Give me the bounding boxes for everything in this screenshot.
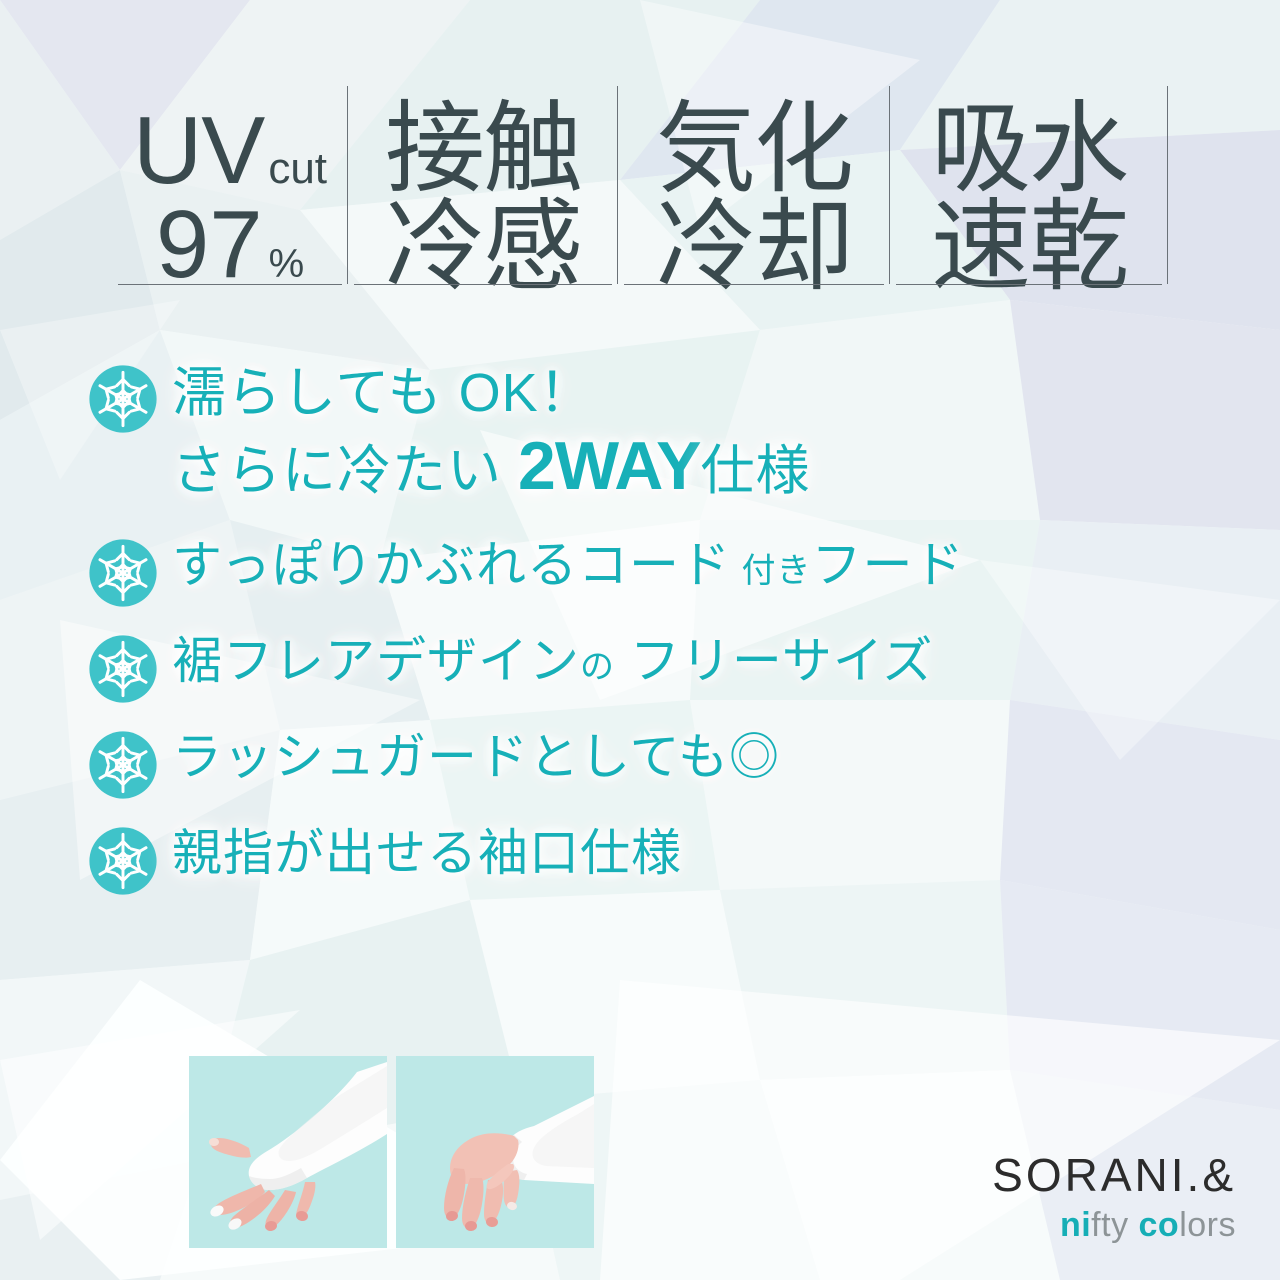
bullet-1-line-2-prefix: さらに冷たい [172, 441, 518, 501]
list-item: ラッシュガードとしても◎ [88, 728, 1218, 800]
list-item-text: すっぽりかぶれるコード 付きフード [172, 536, 964, 595]
bullet-2-text-b: 付き [731, 552, 811, 590]
brand-sub-fty: fty [1091, 1206, 1138, 1244]
bullet-1-highlight-2way: 2WAY [518, 428, 700, 504]
feature-evaporative-cooling-line1: 気化 [656, 100, 852, 198]
list-item: 親指が出せる袖口仕様 [88, 824, 1218, 896]
bullet-4-text: ラッシュガードとしても◎ [172, 728, 780, 787]
brand-sub-ni: ni [1060, 1206, 1091, 1244]
bullet-3-text-a: 裾フレアデザイン [172, 633, 580, 689]
bullet-1-line-1: 濡らしても OK！ [172, 362, 810, 426]
feature-contact-cooling-line1: 接触 [385, 100, 581, 198]
bullet-1-line-2-suffix: 仕様 [700, 441, 810, 501]
brand-name-sorani: SORANI.& [992, 1151, 1236, 1199]
list-item: 濡らしても OK！ さらに冷たい 2WAY仕様 [88, 362, 1218, 506]
snowflake-icon [88, 634, 158, 704]
feature-uv-cut: UVcut 97% [112, 86, 348, 310]
bullet-3-text-c: フリーサイズ [615, 633, 933, 689]
bullet-5-text: 親指が出せる袖口仕様 [172, 824, 682, 883]
advertisement-canvas: UVcut 97% 接触 冷感 気化 冷却 吸水 速乾 [0, 0, 1280, 1280]
snowflake-icon [88, 826, 158, 896]
feature-uv-line1: UVcut [133, 104, 327, 198]
list-item-text: ラッシュガードとしても◎ [172, 728, 780, 787]
list-item-text: 濡らしても OK！ さらに冷たい 2WAY仕様 [172, 362, 810, 506]
list-item: 裾フレアデザインの フリーサイズ [88, 632, 1218, 704]
feature-contact-cooling: 接触 冷感 [348, 86, 618, 310]
feature-uv-percent-value: 97 [156, 198, 263, 292]
brand-logo: SORANI.& nifty colors [992, 1151, 1236, 1246]
list-item-text: 裾フレアデザインの フリーサイズ [172, 632, 933, 691]
brand-sub-co: co [1139, 1206, 1180, 1244]
snowflake-icon [88, 538, 158, 608]
list-item: すっぽりかぶれるコード 付きフード [88, 536, 1218, 608]
feature-contact-cooling-line2: 冷感 [385, 198, 581, 296]
list-item-text: 親指が出せる袖口仕様 [172, 824, 682, 883]
feature-quick-dry-line1: 吸水 [931, 100, 1127, 198]
brand-name-nifty-colors: nifty colors [992, 1205, 1236, 1246]
feature-quick-dry: 吸水 速乾 [890, 86, 1168, 310]
feature-uv-main: UV [133, 104, 264, 198]
bullet-2-text-c: フード [811, 537, 964, 593]
brand-sub-lors: lors [1179, 1206, 1236, 1244]
feature-uv-line2: 97% [156, 198, 304, 292]
feature-badges-row: UVcut 97% 接触 冷感 気化 冷却 吸水 速乾 [112, 86, 1168, 310]
feature-uv-percent-sign: % [269, 245, 305, 284]
bullet-2-text-a: すっぽりかぶれるコード [172, 537, 731, 593]
feature-evaporative-cooling: 気化 冷却 [618, 86, 890, 310]
feature-uv-small: cut [268, 147, 327, 190]
bullet-3-text-b: の [580, 648, 615, 686]
snowflake-icon [88, 730, 158, 800]
feature-quick-dry-line2: 速乾 [931, 198, 1127, 296]
product-photo-hand-cuff [396, 1056, 594, 1248]
product-photo-strip [189, 1056, 594, 1248]
snowflake-icon [88, 364, 158, 434]
feature-evaporative-cooling-line2: 冷却 [656, 198, 852, 296]
product-photo-thumb-hole-sleeve [189, 1056, 387, 1248]
feature-bullet-list: 濡らしても OK！ さらに冷たい 2WAY仕様 [88, 362, 1218, 910]
